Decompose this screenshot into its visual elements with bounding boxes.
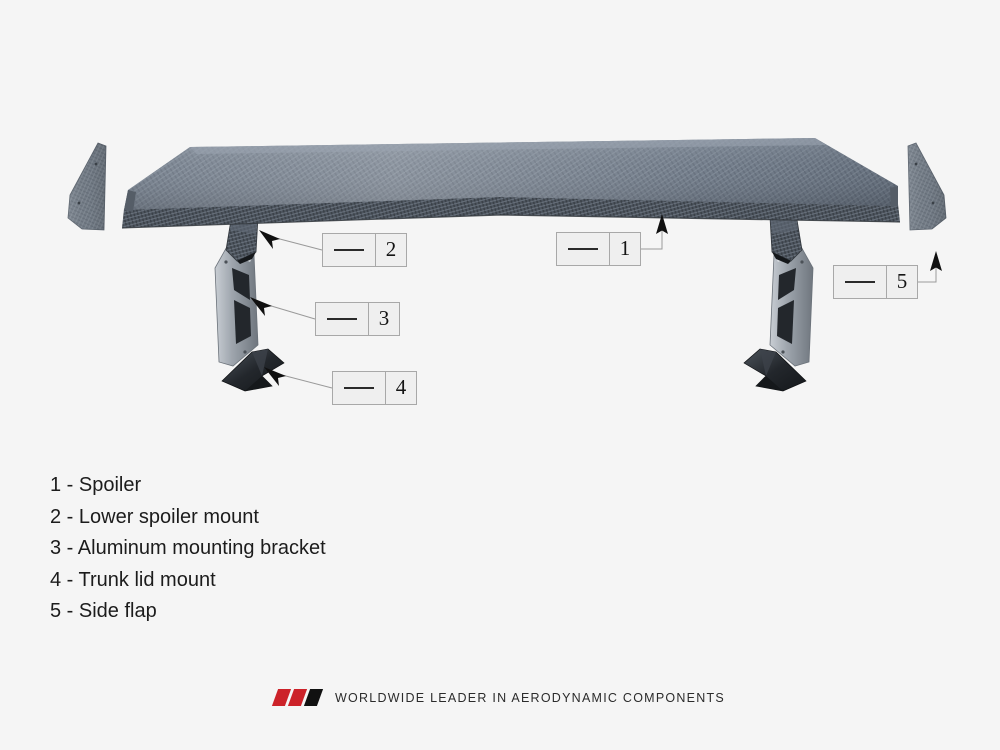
callout-box-2[interactable]: 2 <box>322 233 407 267</box>
callout-dash-cell <box>557 233 610 265</box>
callout-dash-cell <box>323 234 376 266</box>
callout-number: 2 <box>376 234 406 266</box>
callout-box-1[interactable]: 1 <box>556 232 641 266</box>
dash-icon <box>344 387 374 389</box>
legend-item-2: 2 - Lower spoiler mount <box>50 502 470 534</box>
footer: WORLDWIDE LEADER IN AERODYNAMIC COMPONEN… <box>0 689 1000 706</box>
callout-number: 5 <box>887 266 917 298</box>
arrowhead-2 <box>259 230 280 249</box>
dash-icon <box>845 281 875 283</box>
product-illustration <box>0 0 1000 750</box>
callout-box-3[interactable]: 3 <box>315 302 400 336</box>
legend-item-3: 3 - Aluminum mounting bracket <box>50 533 470 565</box>
brand-logo-icon <box>275 689 323 706</box>
callout-box-5[interactable]: 5 <box>833 265 918 299</box>
diagram-canvas: 1 2 3 4 5 1 - Spoiler 2 - Lower spoiler … <box>0 0 1000 750</box>
parts-legend: 1 - Spoiler 2 - Lower spoiler mount 3 - … <box>50 470 470 628</box>
side-flap-right <box>908 143 946 230</box>
callout-dash-cell <box>333 372 386 404</box>
footer-tagline: WORLDWIDE LEADER IN AERODYNAMIC COMPONEN… <box>335 691 725 705</box>
logo-bar-3 <box>304 689 323 706</box>
aluminum-mounting-bracket-right <box>770 243 813 366</box>
side-flap-left <box>68 143 106 230</box>
dash-icon <box>334 249 364 251</box>
callout-number: 3 <box>369 303 399 335</box>
callout-dash-cell <box>316 303 369 335</box>
legend-item-1: 1 - Spoiler <box>50 470 470 502</box>
spoiler-wing <box>122 138 900 228</box>
callout-number: 1 <box>610 233 640 265</box>
callout-number: 4 <box>386 372 416 404</box>
dash-icon <box>568 248 598 250</box>
aluminum-mounting-bracket-left <box>215 243 258 366</box>
legend-item-5: 5 - Side flap <box>50 596 470 628</box>
callout-box-4[interactable]: 4 <box>332 371 417 405</box>
dash-icon <box>327 318 357 320</box>
legend-item-4: 4 - Trunk lid mount <box>50 565 470 597</box>
callout-dash-cell <box>834 266 887 298</box>
